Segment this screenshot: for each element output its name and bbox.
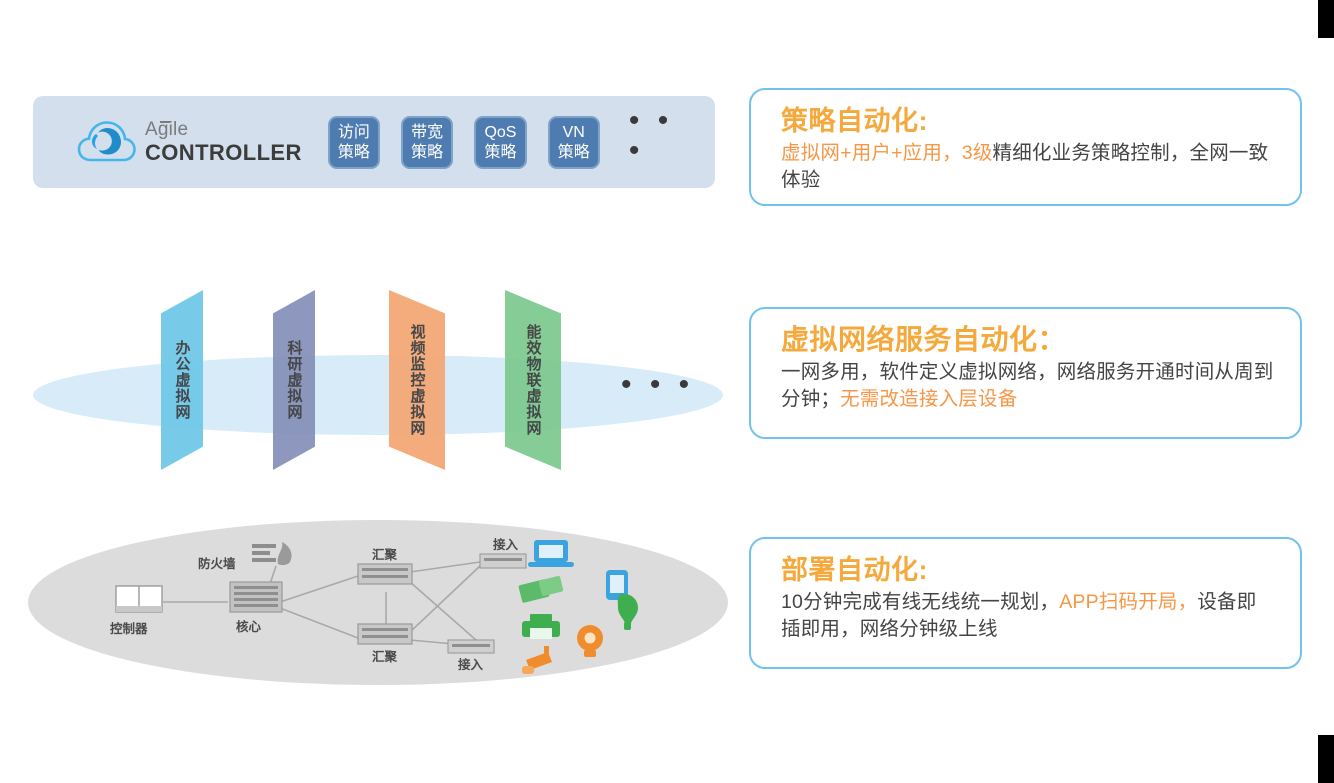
- feature-card-policy-automation: 策略自动化: 虚拟网+用户+应用，3级精细化业务策略控制，全网一致体验: [749, 88, 1302, 206]
- vn-pane-video-surveillance[interactable]: 视频监控虚拟网: [389, 290, 445, 470]
- bullet-camera-endpoint-icon: [522, 646, 552, 674]
- access-switch-bottom-icon: [448, 640, 494, 653]
- feature-card-deployment-automation: 部署自动化: 10分钟完成有线无线统一规划，APP扫码开局，设备即插即用，网络分…: [749, 537, 1302, 669]
- access-switch-top-icon: [480, 554, 526, 568]
- feature-card-virtual-network-service-automation: 虚拟网络服务自动化： 一网多用，软件定义虚拟网络，网络服务开通时间从周到分钟；无…: [749, 307, 1302, 439]
- macron-mark: [160, 121, 170, 123]
- core-switch-node-icon: [230, 582, 282, 612]
- policy-chip-group: 访问 策略 带宽 策略 QoS 策略 VN 策略 • • •: [328, 106, 701, 178]
- firewall-node-icon: [252, 542, 292, 565]
- feature-body-highlight: 虚拟网+用户+应用，3级: [781, 142, 993, 164]
- vn-pane-energy-iot[interactable]: 能效物联虚拟网: [505, 290, 561, 470]
- chip-line1: QoS: [484, 123, 516, 142]
- chip-line2: 策略: [484, 143, 516, 162]
- vn-pane-research[interactable]: 科研虚拟网: [273, 290, 315, 470]
- chip-line2: 策略: [411, 143, 443, 162]
- logo-controller-text: CONTROLLER: [145, 142, 302, 164]
- logo-agile-text: Agile: [145, 120, 188, 139]
- policy-chip-bandwidth[interactable]: 带宽 策略: [401, 116, 453, 169]
- topology-label-firewall: 防火墙: [198, 553, 236, 572]
- aggregation-switch-bottom-icon: [358, 624, 412, 644]
- feature-card-body: 一网多用，软件定义虚拟网络，网络服务开通时间从周到分钟；无需改造接入层设备: [781, 359, 1274, 413]
- policy-chip-qos[interactable]: QoS 策略: [474, 116, 526, 169]
- agile-controller-logo: Agile CONTROLLER: [77, 118, 302, 166]
- slide-frame-bar-bottom: [1318, 735, 1334, 783]
- topology-label-access-bottom: 接入: [458, 654, 483, 673]
- chip-line2: 策略: [558, 143, 590, 162]
- sensor-endpoint-icon: [618, 594, 638, 630]
- feature-card-title: 部署自动化:: [781, 553, 1274, 587]
- pos-terminal-endpoint-icon: [518, 576, 563, 604]
- chip-line2: 策略: [338, 143, 370, 162]
- aggregation-switch-top-icon: [358, 564, 412, 584]
- vn-pane-label: 科研虚拟网: [286, 340, 303, 420]
- feature-card-body: 10分钟完成有线无线统一规划，APP扫码开局，设备即插即用，网络分钟级上线: [781, 589, 1274, 643]
- topology-label-access-top: 接入: [493, 534, 518, 553]
- network-band-ellipse: [33, 355, 723, 435]
- feature-card-title: 策略自动化:: [781, 104, 1274, 138]
- vn-pane-label: 视频监控虚拟网: [409, 324, 426, 436]
- slide-frame-bar-top: [1318, 0, 1334, 38]
- vn-more-ellipsis[interactable]: • • •: [621, 370, 694, 400]
- vn-pane-label: 办公虚拟网: [174, 340, 191, 420]
- feature-card-title: 虚拟网络服务自动化：: [781, 323, 1274, 357]
- feature-body-highlight: 无需改造接入层设备: [840, 388, 1017, 410]
- chip-line1: VN: [563, 123, 585, 142]
- chip-line1: 访问: [338, 123, 370, 142]
- network-topology-diagram: 控制器 防火墙 核心 汇聚 汇聚 接入 接入: [28, 520, 728, 690]
- feature-card-body: 虚拟网+用户+应用，3级精细化业务策略控制，全网一致体验: [781, 140, 1274, 194]
- cloud-swirl-logo-icon: [77, 118, 137, 166]
- virtual-network-layer: 办公虚拟网 科研虚拟网 视频监控虚拟网 能效物联虚拟网 • • •: [33, 290, 723, 500]
- controller-node-icon: [116, 586, 162, 612]
- topology-label-controller: 控制器: [110, 618, 148, 637]
- topology-label-aggregation-bottom: 汇聚: [372, 646, 397, 665]
- topology-label-core-switch: 核心: [236, 616, 261, 635]
- feature-body-rest: 10分钟完成有线无线统一规划，: [781, 591, 1059, 613]
- vn-pane-office[interactable]: 办公虚拟网: [161, 290, 203, 470]
- vn-pane-label: 能效物联虚拟网: [525, 324, 542, 436]
- topology-links: [163, 562, 480, 646]
- agile-controller-bar: Agile CONTROLLER 访问 策略 带宽 策略 QoS 策略 VN 策…: [33, 96, 715, 188]
- feature-body-highlight: APP扫码开局，: [1059, 591, 1197, 613]
- agile-controller-wordmark: Agile CONTROLLER: [145, 120, 302, 164]
- policy-chip-vn[interactable]: VN 策略: [548, 116, 600, 169]
- printer-endpoint-icon: [522, 614, 560, 639]
- policy-more-ellipsis[interactable]: • • •: [629, 106, 701, 178]
- dome-camera-endpoint-icon: [577, 625, 603, 657]
- policy-chip-access[interactable]: 访问 策略: [328, 116, 380, 169]
- laptop-endpoint-icon: [528, 540, 574, 567]
- topology-label-aggregation-top: 汇聚: [372, 544, 397, 563]
- chip-line1: 带宽: [411, 123, 443, 142]
